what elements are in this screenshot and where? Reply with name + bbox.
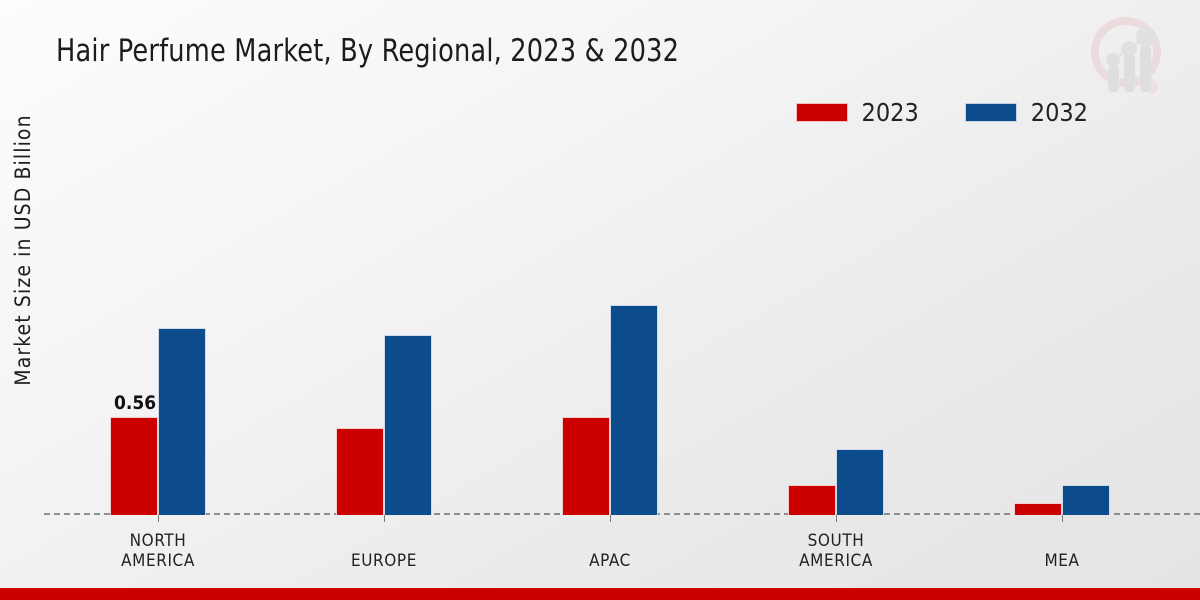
chart-legend: 2023 2032: [796, 100, 1088, 125]
legend-swatch-2032: [965, 103, 1017, 122]
legend-swatch-2023: [796, 103, 848, 122]
x-tick-apac: [610, 515, 611, 522]
bar-south-america-2023[interactable]: [788, 485, 836, 515]
x-label-mea-line1: MEA: [1044, 551, 1079, 571]
bar-group-apac: APAC: [562, 140, 658, 515]
bars-north-america: [110, 140, 206, 515]
bar-north-america-2023[interactable]: [110, 417, 158, 515]
bar-mea-2023[interactable]: [1014, 503, 1062, 515]
x-label-europe: EUROPE: [264, 551, 504, 571]
bar-apac-2032[interactable]: [610, 305, 658, 515]
chart-canvas: Hair Perfume Market, By Regional, 2023 &…: [0, 0, 1200, 600]
bottom-accent-strip: [0, 588, 1200, 600]
x-label-apac-line1: APAC: [589, 551, 631, 571]
x-label-north-america: NORTH AMERICA: [38, 531, 278, 571]
x-tick-europe: [384, 515, 385, 522]
trend-dots-glyph: [1106, 27, 1156, 67]
bars-mea: [1014, 140, 1110, 515]
x-tick-south-america: [836, 515, 837, 522]
data-label-north-america-2023: 0.56: [114, 392, 156, 414]
bars-apac: [562, 140, 658, 515]
bar-europe-2023[interactable]: [336, 428, 384, 515]
legend-label-2023: 2023: [862, 100, 919, 125]
bar-group-mea: MEA: [1014, 140, 1110, 515]
bar-apac-2023[interactable]: [562, 417, 610, 515]
magnifier-ring-icon: [1095, 21, 1161, 96]
legend-label-2032: 2032: [1031, 100, 1088, 125]
bar-north-america-2032[interactable]: [158, 328, 206, 515]
bar-mea-2032[interactable]: [1062, 485, 1110, 515]
page-title: Hair Perfume Market, By Regional, 2023 &…: [56, 33, 679, 69]
x-label-north-america-line2: AMERICA: [121, 551, 195, 571]
y-axis-title: Market Size in USD Billion: [11, 85, 35, 415]
x-label-south-america-line2: AMERICA: [799, 551, 873, 571]
bars-south-america: [788, 140, 884, 515]
x-label-north-america-line1: NORTH: [130, 531, 187, 551]
legend-item-2032[interactable]: 2032: [965, 100, 1088, 125]
plot-area: 0.56 NORTH AMERICA EUROPE: [44, 140, 1200, 515]
bars-europe: [336, 140, 432, 515]
x-label-south-america: SOUTH AMERICA: [716, 531, 956, 571]
x-label-europe-line1: EUROPE: [351, 551, 417, 571]
company-watermark-logo: [1082, 8, 1178, 104]
x-label-mea: MEA: [942, 551, 1182, 571]
x-label-apac: APAC: [490, 551, 730, 571]
bar-group-europe: EUROPE: [336, 140, 432, 515]
bar-south-america-2032[interactable]: [836, 449, 884, 515]
bar-chart-glyph: [1108, 46, 1151, 92]
bar-europe-2032[interactable]: [384, 335, 432, 515]
bar-group-south-america: SOUTH AMERICA: [788, 140, 884, 515]
x-tick-mea: [1062, 515, 1063, 522]
x-tick-north-america: [158, 515, 159, 522]
legend-item-2023[interactable]: 2023: [796, 100, 919, 125]
bar-group-north-america: 0.56 NORTH AMERICA: [110, 140, 206, 515]
trend-line-glyph: [1113, 37, 1146, 60]
x-label-south-america-line1: SOUTH: [808, 531, 865, 551]
